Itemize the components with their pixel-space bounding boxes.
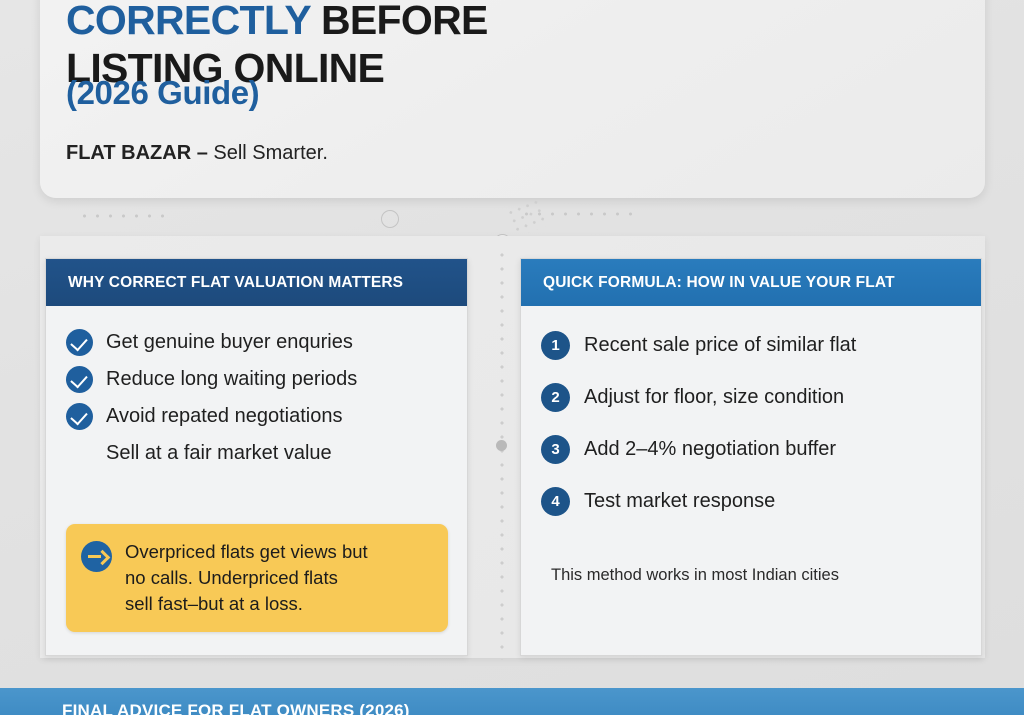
list-item: Avoid repated negotiations (66, 402, 447, 431)
check-circle-icon (66, 329, 93, 356)
card-why-valuation-matters: WHY CORRECT FLAT VALUATION MATTERS Get g… (45, 258, 468, 656)
list-item-label: Test market response (584, 490, 775, 513)
right-card-header: QUICK FORMULA: HOW IN VALUE YOUR FLAT (521, 259, 981, 306)
callout-text: Overpriced flats get views but no calls.… (125, 539, 368, 617)
list-item-label: Adjust for floor, size condition (584, 386, 844, 409)
list-item-label: Add 2–4% negotiation buffer (584, 438, 836, 461)
check-circle-icon (66, 366, 93, 393)
callout-line-3: sell fast–but at a loss. (125, 593, 303, 614)
page-title-rest: BEFORE (310, 0, 487, 43)
step-number-icon: 3 (541, 435, 570, 464)
list-item-label: Get genuine buyer enquries (106, 331, 353, 354)
brand-slogan: Sell Smarter. (208, 142, 328, 164)
bottom-banner-title: FINAL ADVICE FOR FLAT OWNERS (2026) (62, 701, 410, 715)
step-number-icon: 4 (541, 487, 570, 516)
hero-title-card: CORRECTLY BEFORE LISTING ONLINE (2026 Gu… (40, 0, 985, 198)
connector-node-middle-icon (496, 440, 507, 451)
right-card-body: 1 Recent sale price of similar flat 2 Ad… (521, 306, 981, 655)
page-title-highlight: CORRECTLY (66, 0, 310, 43)
benefits-list: Get genuine buyer enquries Reduce long w… (66, 328, 447, 468)
formula-steps-list: 1 Recent sale price of similar flat 2 Ad… (541, 330, 961, 516)
list-item: 4 Test market response (541, 486, 961, 516)
list-item-label: Reduce long waiting periods (106, 368, 357, 391)
list-item: 3 Add 2–4% negotiation buffer (541, 434, 961, 464)
list-item: Sell at a fair market value (66, 439, 447, 468)
left-card-header: WHY CORRECT FLAT VALUATION MATTERS (46, 259, 467, 306)
dotted-line-vertical-divider (500, 248, 504, 660)
arrow-right-icon (81, 541, 112, 572)
list-item-label: Avoid repated negotiations (106, 405, 342, 428)
callout-line-1: Overpriced flats get views but (125, 541, 368, 562)
check-circle-icon-empty (66, 440, 93, 467)
warning-callout: Overpriced flats get views but no calls.… (66, 524, 448, 632)
brand-name: FLAT BAZAR – (66, 142, 208, 164)
list-item: Get genuine buyer enquries (66, 328, 447, 357)
page-title-line-1: CORRECTLY BEFORE (66, 0, 488, 44)
page-subtitle: (2026 Guide) (66, 74, 259, 112)
bottom-banner: FINAL ADVICE FOR FLAT OWNERS (2026) (0, 688, 1024, 715)
list-item-label: Sell at a fair market value (106, 442, 332, 465)
list-item: 1 Recent sale price of similar flat (541, 330, 961, 360)
method-note: This method works in most Indian cities (551, 566, 839, 585)
card-quick-formula: QUICK FORMULA: HOW IN VALUE YOUR FLAT 1 … (520, 258, 982, 656)
list-item: Reduce long waiting periods (66, 365, 447, 394)
check-circle-icon (66, 403, 93, 430)
list-item: 2 Adjust for floor, size condition (541, 382, 961, 412)
step-number-icon: 2 (541, 383, 570, 412)
brand-tagline: FLAT BAZAR – Sell Smarter. (66, 142, 328, 165)
step-number-icon: 1 (541, 331, 570, 360)
left-card-body: Get genuine buyer enquries Reduce long w… (46, 306, 467, 655)
list-item-label: Recent sale price of similar flat (584, 334, 856, 357)
callout-line-2: no calls. Underpriced flats (125, 567, 338, 588)
